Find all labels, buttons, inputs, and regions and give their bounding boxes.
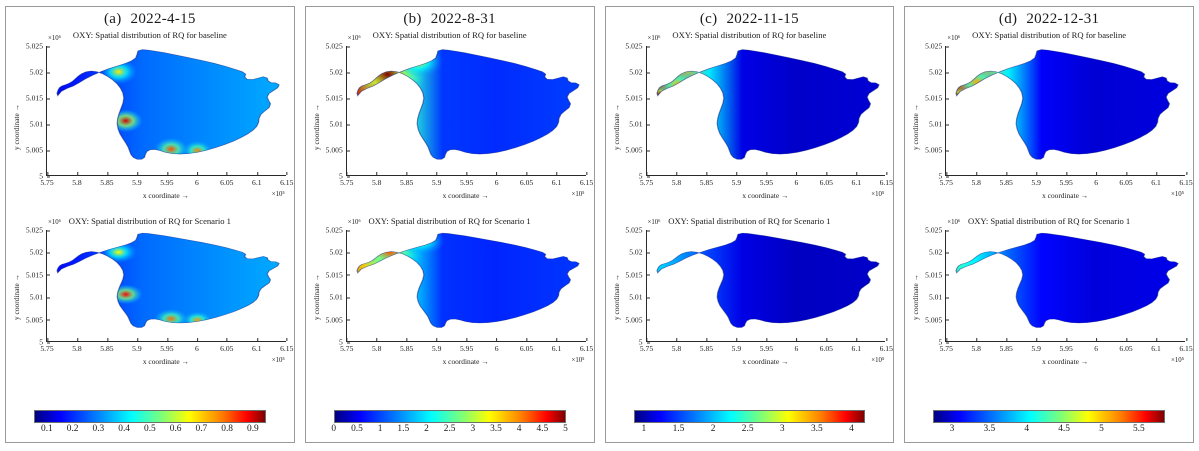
x-tick-label: 6 [794, 175, 798, 187]
subplot-title: OXY: Spatial distribution of RQ for base… [300, 30, 600, 40]
colorbar-tick-label: 2 [711, 424, 716, 434]
x-tick-label: 6.1 [852, 341, 862, 353]
colorbar-gradient [34, 410, 266, 423]
x-tick-label: 5.8 [672, 341, 682, 353]
colorbar-tick-row: 11.522.533.54 [634, 423, 866, 437]
x-tick-label: 5.9 [132, 175, 142, 187]
colorbar-tick-label: 0.9 [247, 424, 259, 434]
y-tick-label: 5.005 [625, 146, 646, 155]
colorbar-tick-label: 3.5 [490, 424, 502, 434]
x-tick-label: 6.05 [1119, 175, 1132, 187]
x-axis-label: x coordinate → [443, 357, 489, 366]
x-tick-label: 5.95 [760, 341, 773, 353]
x-tick-label: 5.9 [1031, 175, 1041, 187]
y-axis-exponent: ×10⁶ [48, 35, 61, 42]
colorbar-tick-label: 3 [780, 424, 785, 434]
x-tick-label: 6.15 [1179, 341, 1192, 353]
x-tick-label: 6.1 [1151, 341, 1161, 353]
panel-title-c: (c)2022-11-15 [700, 11, 799, 28]
lake-heatmap-d-scenario1 [946, 230, 1185, 341]
x-tick-label: 5.9 [132, 341, 142, 353]
x-tick-label: 6 [195, 175, 199, 187]
colorbar-tick-label: 0.5 [144, 424, 156, 434]
lake-heatmap-c-baseline [647, 46, 886, 175]
panel-d: (d)2022-12-31OXY: Spatial distribution o… [899, 0, 1199, 451]
y-tick-label: 5.01 [329, 120, 346, 129]
y-tick-label: 5.01 [929, 120, 946, 129]
plot-axes: 55.0055.015.0155.025.0255.755.85.855.95.… [346, 46, 586, 176]
colorbar-tick-label: 0.7 [196, 424, 208, 434]
y-tick-label: 5.005 [625, 315, 646, 324]
panel-date: 2022-12-31 [1026, 11, 1099, 27]
colorbar-a: 0.10.20.30.40.50.60.70.80.9 [0, 410, 300, 437]
subplot-a-baseline: OXY: Spatial distribution of RQ for base… [0, 28, 300, 214]
x-tick-label: 5.8 [971, 341, 981, 353]
x-tick-label: 5.85 [1000, 175, 1013, 187]
colorbar-c: 11.522.533.54 [600, 410, 900, 437]
colorbar-gradient [634, 410, 866, 423]
subplot-title: OXY: Spatial distribution of RQ for Scen… [899, 216, 1199, 226]
y-axis-exponent: ×10⁶ [648, 219, 661, 226]
y-axis-label: y coordinate → [911, 104, 920, 150]
lake-heatmap-c-scenario1 [647, 230, 886, 341]
y-axis-exponent: ×10⁶ [348, 219, 361, 226]
x-tick-label: 6.15 [280, 175, 293, 187]
panel-a: (a)2022-4-15OXY: Spatial distribution of… [0, 0, 300, 451]
y-axis-exponent: ×10⁶ [947, 35, 960, 42]
y-tick-label: 5.005 [26, 146, 47, 155]
x-tick-label: 6.15 [880, 341, 893, 353]
y-axis-label: y coordinate → [612, 104, 621, 150]
x-axis-label: x coordinate → [742, 357, 788, 366]
x-tick-label: 5.8 [72, 175, 82, 187]
y-tick-label: 5.025 [326, 226, 347, 235]
x-tick-label: 5.9 [732, 175, 742, 187]
x-tick-label: 5.95 [1059, 175, 1072, 187]
y-tick-label: 5.015 [326, 270, 347, 279]
x-axis-exponent: ×10⁵ [1171, 191, 1184, 198]
x-tick-label: 5.75 [340, 341, 353, 353]
y-axis-label: y coordinate → [12, 274, 21, 320]
subplot-title: OXY: Spatial distribution of RQ for Scen… [0, 216, 300, 226]
panel-date: 2022-11-15 [726, 11, 798, 27]
y-axis-label: y coordinate → [911, 274, 920, 320]
plot-axes: 55.0055.015.0155.025.0255.755.85.855.95.… [646, 46, 886, 176]
colorbar-tick-label: 0.6 [170, 424, 182, 434]
colorbar-tick-label: 4 [517, 424, 522, 434]
x-axis-exponent: ×10⁵ [272, 357, 285, 364]
x-tick-label: 5.8 [971, 175, 981, 187]
panel-b: (b)2022-8-31OXY: Spatial distribution of… [300, 0, 600, 451]
y-tick-label: 5.025 [26, 226, 47, 235]
x-tick-label: 5.95 [460, 341, 473, 353]
x-axis-exponent: ×10⁵ [272, 191, 285, 198]
y-tick-label: 5.005 [326, 146, 347, 155]
x-tick-label: 5.9 [432, 341, 442, 353]
subplot-title: OXY: Spatial distribution of RQ for base… [600, 30, 900, 40]
subplot-d-scenario1: OXY: Spatial distribution of RQ for Scen… [899, 214, 1199, 379]
x-tick-label: 5.8 [372, 175, 382, 187]
x-axis-exponent: ×10⁵ [1171, 357, 1184, 364]
subplot-a-scenario1: OXY: Spatial distribution of RQ for Scen… [0, 214, 300, 379]
x-tick-label: 5.95 [460, 175, 473, 187]
subplot-d-baseline: OXY: Spatial distribution of RQ for base… [899, 28, 1199, 214]
y-axis-exponent: ×10⁶ [48, 219, 61, 226]
x-tick-label: 5.75 [340, 175, 353, 187]
x-tick-label: 6.05 [820, 175, 833, 187]
panel-title-a: (a)2022-4-15 [104, 11, 196, 28]
x-tick-label: 5.8 [72, 341, 82, 353]
x-tick-label: 5.75 [940, 341, 953, 353]
colorbar-tick-label: 5 [1099, 424, 1104, 434]
y-tick-label: 5.005 [925, 146, 946, 155]
y-tick-label: 5.02 [329, 248, 346, 257]
panel-label: (a) [104, 11, 122, 27]
x-axis-label: x coordinate → [742, 191, 788, 200]
colorbar-b: 00.511.522.533.544.55 [300, 410, 600, 437]
panel-title-d: (d)2022-12-31 [999, 11, 1099, 28]
x-tick-label: 6.15 [280, 341, 293, 353]
colorbar-gradient [933, 410, 1165, 423]
x-axis-exponent: ×10⁵ [871, 191, 884, 198]
x-tick-label: 6.15 [580, 175, 593, 187]
y-tick-label: 5.02 [629, 248, 646, 257]
colorbar-tick-label: 0.2 [67, 424, 79, 434]
x-axis-label: x coordinate → [1042, 357, 1088, 366]
y-tick-label: 5.02 [629, 68, 646, 77]
y-tick-label: 5.015 [925, 270, 946, 279]
x-tick-label: 5.95 [1059, 341, 1072, 353]
x-tick-label: 5.85 [700, 175, 713, 187]
x-axis-label: x coordinate → [143, 357, 189, 366]
colorbar-tick-label: 0.5 [351, 424, 363, 434]
y-axis-label: y coordinate → [312, 104, 321, 150]
x-axis-label: x coordinate → [443, 191, 489, 200]
x-tick-label: 6.1 [1151, 175, 1161, 187]
y-tick-label: 5.015 [26, 270, 47, 279]
subplot-b-scenario1: OXY: Spatial distribution of RQ for Scen… [300, 214, 600, 379]
colorbar-tick-label: 5.5 [1133, 424, 1145, 434]
colorbar-tick-label: 1.5 [673, 424, 685, 434]
plot-axes: 55.0055.015.0155.025.0255.755.85.855.95.… [346, 230, 586, 342]
y-tick-label: 5.025 [625, 226, 646, 235]
y-axis-exponent: ×10⁶ [947, 219, 960, 226]
x-tick-label: 5.85 [400, 341, 413, 353]
y-tick-label: 5.02 [30, 68, 47, 77]
subplot-c-scenario1: OXY: Spatial distribution of RQ for Scen… [600, 214, 900, 379]
y-tick-label: 5.005 [326, 315, 347, 324]
colorbar-tick-label: 1 [378, 424, 383, 434]
y-tick-label: 5.005 [925, 315, 946, 324]
y-tick-label: 5.015 [625, 94, 646, 103]
x-axis-label: x coordinate → [1042, 191, 1088, 200]
y-axis-exponent: ×10⁶ [348, 35, 361, 42]
x-tick-label: 5.95 [160, 175, 173, 187]
colorbar-tick-label: 2.5 [742, 424, 754, 434]
y-axis-label: y coordinate → [12, 104, 21, 150]
x-tick-label: 6.05 [220, 341, 233, 353]
y-tick-label: 5.015 [925, 94, 946, 103]
x-tick-label: 5.8 [372, 341, 382, 353]
x-tick-label: 6 [495, 341, 499, 353]
x-tick-label: 6.15 [880, 175, 893, 187]
y-tick-label: 5.02 [329, 68, 346, 77]
x-tick-label: 6.1 [552, 341, 562, 353]
x-tick-label: 5.75 [640, 341, 653, 353]
x-tick-label: 6.1 [252, 341, 262, 353]
y-tick-label: 5.015 [26, 94, 47, 103]
subplot-title: OXY: Spatial distribution of RQ for Scen… [300, 216, 600, 226]
panel-title-b: (b)2022-8-31 [403, 11, 496, 28]
y-tick-label: 5.02 [30, 248, 47, 257]
colorbar-tick-label: 4 [849, 424, 854, 434]
y-tick-label: 5.01 [629, 120, 646, 129]
panel-label: (b) [403, 11, 421, 27]
panel-label: (d) [999, 11, 1017, 27]
panel-label: (c) [700, 11, 718, 27]
colorbar-tick-label: 4 [1024, 424, 1029, 434]
colorbar-tick-label: 0.4 [118, 424, 130, 434]
y-tick-label: 5.01 [30, 293, 47, 302]
colorbar-tick-label: 4.5 [536, 424, 548, 434]
x-axis-label: x coordinate → [143, 191, 189, 200]
colorbar-tick-label: 2 [424, 424, 429, 434]
panel-c: (c)2022-11-15OXY: Spatial distribution o… [600, 0, 900, 451]
y-tick-label: 5.01 [30, 120, 47, 129]
x-tick-label: 6 [1094, 175, 1098, 187]
y-tick-label: 5.005 [26, 315, 47, 324]
y-tick-label: 5.025 [925, 226, 946, 235]
y-axis-label: y coordinate → [312, 274, 321, 320]
lake-heatmap-b-baseline [347, 46, 586, 175]
colorbar-tick-label: 0.3 [93, 424, 105, 434]
y-tick-label: 5.01 [929, 293, 946, 302]
y-tick-label: 5.025 [26, 42, 47, 51]
lake-heatmap-b-scenario1 [347, 230, 586, 341]
x-tick-label: 5.8 [672, 175, 682, 187]
y-axis-exponent: ×10⁶ [648, 35, 661, 42]
plot-axes: 55.0055.015.0155.025.0255.755.85.855.95.… [646, 230, 886, 342]
y-axis-label: y coordinate → [612, 274, 621, 320]
x-tick-label: 6 [495, 175, 499, 187]
y-tick-label: 5.01 [629, 293, 646, 302]
x-tick-label: 5.9 [432, 175, 442, 187]
colorbar-tick-label: 2.5 [444, 424, 456, 434]
x-tick-label: 5.75 [640, 175, 653, 187]
x-tick-label: 5.85 [100, 175, 113, 187]
x-axis-exponent: ×10⁵ [871, 357, 884, 364]
panel-date: 2022-4-15 [131, 11, 196, 27]
x-axis-exponent: ×10⁵ [572, 357, 585, 364]
colorbar-tick-row: 00.511.522.533.544.55 [334, 423, 566, 437]
x-tick-label: 6.15 [580, 341, 593, 353]
x-tick-label: 5.85 [1000, 341, 1013, 353]
lake-heatmap-a-scenario1 [47, 230, 286, 341]
x-tick-label: 5.85 [700, 341, 713, 353]
x-tick-label: 6.15 [1179, 175, 1192, 187]
y-tick-label: 5.025 [625, 42, 646, 51]
y-tick-label: 5.02 [929, 248, 946, 257]
x-tick-label: 5.95 [760, 175, 773, 187]
x-tick-label: 5.85 [100, 341, 113, 353]
subplot-title: OXY: Spatial distribution of RQ for base… [0, 30, 300, 40]
y-tick-label: 5.01 [329, 293, 346, 302]
y-tick-label: 5.015 [326, 94, 347, 103]
colorbar-tick-label: 1 [642, 424, 647, 434]
y-tick-label: 5.025 [326, 42, 347, 51]
x-tick-label: 6 [195, 341, 199, 353]
x-tick-label: 5.75 [40, 175, 53, 187]
x-tick-label: 6.1 [852, 175, 862, 187]
y-tick-label: 5.015 [625, 270, 646, 279]
x-tick-label: 5.75 [40, 341, 53, 353]
colorbar-tick-label: 3 [950, 424, 955, 434]
x-tick-label: 6.05 [820, 341, 833, 353]
x-tick-label: 5.75 [940, 175, 953, 187]
figure-root: (a)2022-4-15OXY: Spatial distribution of… [0, 0, 1199, 451]
plot-axes: 55.0055.015.0155.025.0255.755.85.855.95.… [46, 230, 286, 342]
colorbar-tick-label: 4.5 [1058, 424, 1070, 434]
x-tick-label: 6.05 [1119, 341, 1132, 353]
colorbar-d: 33.544.555.5 [899, 410, 1199, 437]
colorbar-tick-label: 0.1 [41, 424, 53, 434]
x-tick-label: 6.05 [520, 341, 533, 353]
subplot-c-baseline: OXY: Spatial distribution of RQ for base… [600, 28, 900, 214]
y-tick-label: 5.025 [925, 42, 946, 51]
x-tick-label: 6.1 [252, 175, 262, 187]
x-tick-label: 6 [794, 341, 798, 353]
x-tick-label: 6.1 [552, 175, 562, 187]
plot-axes: 55.0055.015.0155.025.0255.755.85.855.95.… [945, 230, 1185, 342]
colorbar-gradient [334, 410, 566, 423]
colorbar-tick-label: 3.5 [983, 424, 995, 434]
colorbar-tick-row: 33.544.555.5 [933, 423, 1165, 437]
y-tick-label: 5.02 [929, 68, 946, 77]
colorbar-tick-label: 1.5 [397, 424, 409, 434]
lake-heatmap-d-baseline [946, 46, 1185, 175]
colorbar-tick-label: 0 [331, 424, 336, 434]
x-tick-label: 6.05 [520, 175, 533, 187]
panel-date: 2022-8-31 [431, 11, 496, 27]
colorbar-tick-row: 0.10.20.30.40.50.60.70.80.9 [34, 423, 266, 437]
subplot-title: OXY: Spatial distribution of RQ for base… [899, 30, 1199, 40]
colorbar-tick-label: 0.8 [221, 424, 233, 434]
x-tick-label: 5.9 [1031, 341, 1041, 353]
x-tick-label: 6.05 [220, 175, 233, 187]
plot-axes: 55.0055.015.0155.025.0255.755.85.855.95.… [945, 46, 1185, 176]
x-tick-label: 5.9 [732, 341, 742, 353]
x-tick-label: 5.85 [400, 175, 413, 187]
colorbar-tick-label: 3.5 [811, 424, 823, 434]
plot-axes: 55.0055.015.0155.025.0255.755.85.855.95.… [46, 46, 286, 176]
x-axis-exponent: ×10⁵ [572, 191, 585, 198]
subplot-title: OXY: Spatial distribution of RQ for Scen… [600, 216, 900, 226]
x-tick-label: 5.95 [160, 341, 173, 353]
colorbar-tick-label: 3 [470, 424, 475, 434]
colorbar-tick-label: 5 [563, 424, 568, 434]
lake-heatmap-a-baseline [47, 46, 286, 175]
x-tick-label: 6 [1094, 341, 1098, 353]
subplot-b-baseline: OXY: Spatial distribution of RQ for base… [300, 28, 600, 214]
